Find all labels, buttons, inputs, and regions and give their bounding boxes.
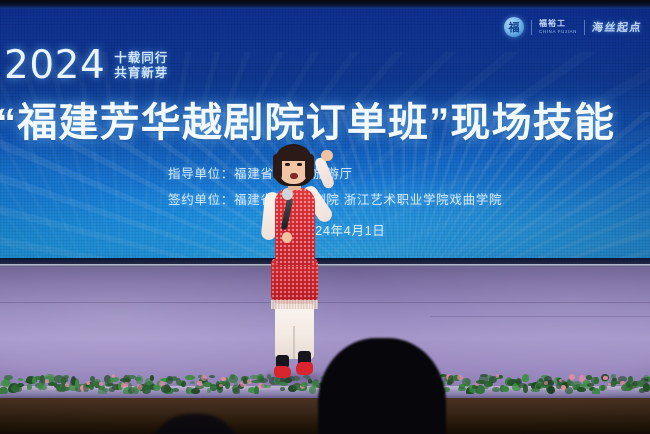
foliage-leaf [225, 381, 230, 389]
performer-left-eye [285, 163, 290, 166]
foliage-leaf [18, 378, 23, 381]
foliage-leaf [128, 383, 132, 389]
brand-logo-sub: CHINA FUJIAN [539, 30, 577, 35]
logo-divider-2 [584, 20, 585, 35]
foliage-leaf [280, 387, 284, 391]
performer-mouth [290, 173, 298, 179]
foliage-leaf [40, 375, 45, 384]
foliage-leaf [594, 377, 598, 384]
performer-hair-left [273, 154, 282, 180]
foliage-leaf [150, 375, 154, 381]
foliage-leaf [522, 374, 529, 382]
ceiling-band [0, 0, 650, 9]
foliage-leaf [0, 387, 8, 394]
performer-figure [248, 140, 340, 385]
performer-left-hand [282, 232, 292, 243]
flower-bloom [603, 376, 607, 380]
stage-floor-seam-2 [430, 316, 650, 317]
foliage-leaf [110, 377, 119, 381]
foliage-leaf [41, 385, 47, 390]
foliage-leaf [172, 388, 179, 392]
flower-bloom [561, 385, 566, 390]
fu-circular-logo-icon: 福 [504, 17, 524, 37]
brand-logo: 福裕工 CHINA FUJIAN [539, 20, 577, 35]
performer-hair-right [305, 154, 314, 180]
foliage-leaf [601, 385, 605, 391]
foliage-leaf [27, 384, 31, 389]
foliage-leaf [102, 388, 109, 392]
foliage-leaf [136, 375, 143, 384]
foliage-leaf [643, 383, 650, 392]
foliage-leaf [502, 386, 509, 392]
flower-bloom [569, 374, 575, 380]
calligraphy-logo: 海丝起点 [591, 19, 643, 35]
foliage-leaf [547, 386, 555, 394]
flower-bloom [201, 375, 207, 381]
performer-right-shoe [296, 362, 313, 375]
foliage-leaf [190, 381, 195, 385]
performer-right-hand [321, 150, 333, 161]
logo-bar: 福 福裕工 CHINA FUJIAN 海丝起点 [504, 16, 642, 38]
performer-right-eye [297, 163, 302, 166]
flower-bloom [112, 374, 116, 378]
performer-left-shoe [274, 366, 291, 378]
foliage-leaf [230, 374, 235, 378]
performer-pants-seam [293, 326, 295, 359]
foliage-leaf [185, 375, 195, 380]
flower-bloom [221, 377, 225, 381]
performer-shadow [264, 374, 326, 382]
performer-right-forearm [313, 156, 335, 190]
foliage-leaf [92, 381, 99, 386]
logo-divider-1 [531, 20, 532, 35]
foliage-leaf [191, 388, 199, 394]
foliage-leaf [209, 375, 216, 379]
foliage-leaf [458, 387, 466, 391]
brand-logo-cn: 福裕工 [539, 20, 577, 28]
foliage-leaf [32, 377, 36, 385]
flower-bloom [219, 384, 222, 387]
foliage-leaf [17, 383, 24, 387]
stage-performance-photo: 福 福裕工 CHINA FUJIAN 海丝起点 2024 十载同行 共育新芽 “… [0, 0, 650, 434]
foliage-leaf [181, 381, 186, 387]
foliage-leaf [484, 383, 489, 389]
performer-skirt-fringe [271, 300, 318, 309]
